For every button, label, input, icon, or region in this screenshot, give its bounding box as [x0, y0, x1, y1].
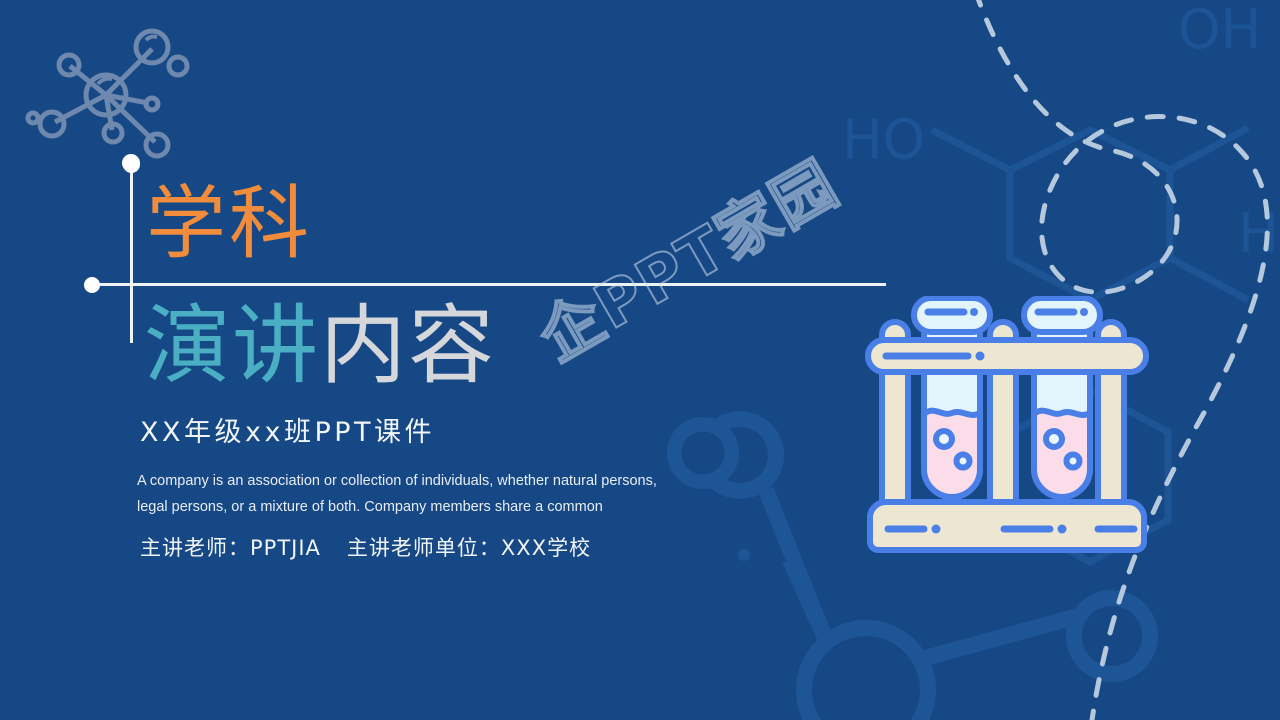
vertical-rule-dot [123, 156, 140, 173]
description-paragraph: A company is an association or collectio… [137, 468, 677, 520]
vertical-rule [130, 168, 133, 343]
svg-text:HN: HN [1238, 202, 1280, 265]
chemical-label-oh: OH [1178, 0, 1261, 61]
presenter-line: 主讲老师：PPTJIA主讲老师单位：XXX学校 [140, 534, 591, 562]
svg-text:OH: OH [1178, 0, 1261, 61]
horizontal-rule [88, 283, 886, 286]
title-segment-content: 内容 [320, 296, 496, 396]
presentation-slide: HO OH HN [0, 0, 1280, 720]
title-block: 学科 演讲内容 XX年级xx班PPT课件 A company is an ass… [0, 0, 960, 620]
title-line-top: 学科 [146, 182, 312, 266]
subtitle-text: XX年级xx班PPT课件 [140, 416, 435, 450]
presenter-organization: 主讲老师单位：XXX学校 [347, 536, 591, 560]
horizontal-rule-dot [84, 277, 100, 293]
title-segment-speech: 演讲 [144, 296, 320, 396]
test-tube-rack-icon [862, 296, 1152, 558]
presenter-teacher: 主讲老师：PPTJIA [140, 536, 321, 560]
chemical-label-hn: HN [1238, 202, 1280, 265]
title-line-main: 演讲内容 [144, 300, 496, 392]
